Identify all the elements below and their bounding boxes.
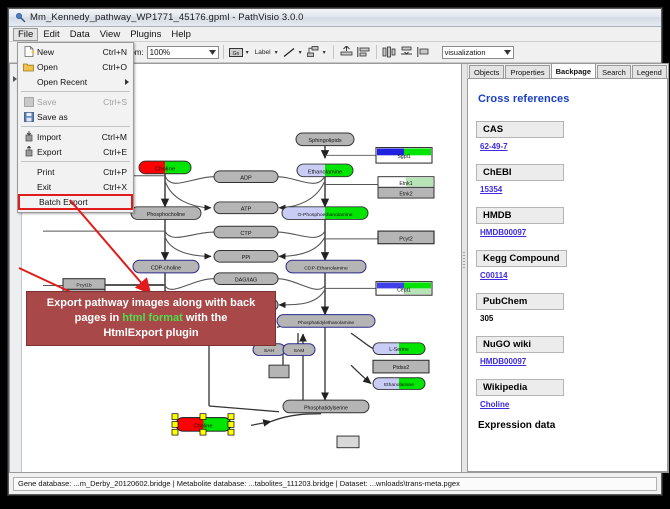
line-tool-button[interactable] (282, 45, 297, 60)
sidebar-tabstrip[interactable]: Objects Properties Backpage Search Legen… (467, 64, 668, 79)
node-phosphocholine[interactable]: Phosphocholine (131, 207, 201, 220)
export-icon (20, 146, 37, 157)
menu-item-open-recent[interactable]: Open Recent (18, 74, 133, 89)
xref-db-label: CAS (476, 121, 564, 138)
node-choline-bottom[interactable]: Choline (172, 414, 234, 435)
node-label: Etnk2 (399, 192, 412, 198)
status-text: Gene database: ...m_Derby_20120602.bridg… (13, 477, 657, 491)
menu-file[interactable]: File (13, 28, 38, 41)
menu-item-batch-export[interactable]: Batch Export (18, 194, 133, 210)
xref-block-pubchem: PubChem 305 (476, 291, 659, 323)
label-tool-button[interactable]: Label (253, 45, 273, 60)
tab-legend[interactable]: Legend (632, 65, 667, 78)
menu-item-shortcut: Ctrl+X (103, 182, 131, 192)
xref-value[interactable]: Choline (480, 400, 659, 409)
file-dropdown-menu[interactable]: New Ctrl+N Open Ctrl+O Open Recent Save … (17, 42, 134, 213)
xref-link[interactable]: HMDB00097 (480, 228, 526, 237)
xref-link[interactable]: 62-49-7 (480, 142, 508, 151)
menu-edit[interactable]: Edit (38, 28, 64, 41)
submenu-arrow-icon (125, 79, 129, 85)
node-ptdss2[interactable]: Ptdss2 (373, 360, 429, 373)
xref-link[interactable]: 15354 (480, 185, 502, 194)
pathvisio-window: Mm_Kennedy_pathway_WP1771_45176.gpml - P… (8, 8, 662, 495)
pathvisio-app-icon (14, 12, 26, 24)
node-label: Cept1 (397, 287, 411, 293)
node-ppi[interactable]: PPi (214, 251, 278, 263)
node-label: Ptdss2 (393, 365, 410, 371)
node-label: Pcyt2 (399, 236, 413, 242)
node-label: L-Serine (389, 347, 409, 353)
statusbar: Gene database: ...m_Derby_20120602.bridg… (9, 473, 661, 494)
menu-item-label: Save as (37, 112, 127, 122)
node-label: Sgpl1 (397, 154, 410, 160)
label-dropdown-caret[interactable]: ▾ (275, 49, 278, 56)
menu-item-shortcut: Ctrl+N (103, 47, 131, 57)
xref-block-cas: CAS 62-49-7 (476, 119, 659, 151)
xref-db-label: PubChem (476, 293, 564, 310)
menu-item-exit[interactable]: Exit Ctrl+X (18, 179, 133, 194)
chevron-down-icon (504, 50, 511, 55)
xref-link[interactable]: C00114 (480, 271, 508, 280)
node-small-block[interactable] (337, 436, 359, 448)
annotation-callout: Export pathway images along with back pa… (26, 291, 276, 346)
toolbar-separator (223, 45, 224, 59)
callout-highlight: html format (122, 312, 183, 324)
menu-item-new[interactable]: New Ctrl+N (18, 44, 133, 59)
menu-item-label: Import (37, 132, 102, 142)
node-adp[interactable]: ADP (214, 171, 278, 183)
node-l-serine[interactable]: L-Serine (373, 343, 425, 355)
node-sphingolipids[interactable]: Sphingolipids (296, 133, 354, 146)
node-label: CDP-choline (151, 266, 181, 272)
menu-item-print[interactable]: Print Ctrl+P (18, 164, 133, 179)
menu-item-shortcut: Ctrl+E (103, 147, 131, 157)
xref-link[interactable]: HMDB00097 (480, 357, 526, 366)
cross-references-heading: Cross references (478, 93, 659, 105)
node-anchor-block[interactable] (269, 365, 289, 378)
node-pcyt1b[interactable]: Pcyt1b (63, 279, 105, 290)
xref-link[interactable]: Choline (480, 400, 509, 409)
expression-data-heading: Expression data (478, 420, 659, 431)
node-etnk1[interactable]: Etnk1 (378, 177, 434, 188)
open-folder-icon (20, 62, 37, 72)
xref-value: 305 (480, 314, 659, 323)
align-top-icon[interactable] (339, 45, 354, 60)
node-label: CDP-Ethanolamine (304, 266, 348, 272)
node-label: Sphingolipids (308, 138, 342, 144)
menu-item-save[interactable]: Save Ctrl+S (18, 94, 133, 109)
save-icon (20, 97, 37, 107)
node-label: ATP (241, 207, 252, 213)
backpage-panel[interactable]: Cross references CAS 62-49-7 ChEBI 15354… (467, 79, 668, 472)
xref-db-label: ChEBI (476, 164, 564, 181)
toolbar-separator (376, 45, 377, 59)
callout-line-3: HtmlExport plugin (103, 326, 198, 341)
menu-item-shortcut: Ctrl+M (102, 132, 131, 142)
menu-view[interactable]: View (95, 28, 125, 41)
node-phosphatidylserine[interactable]: Phosphatidylserine (283, 400, 369, 413)
node-label: Phosphatidylserine (304, 405, 348, 411)
geneproduct-tool-button[interactable]: Gn (229, 45, 244, 60)
zoom-combobox[interactable]: 100% (147, 46, 219, 59)
menu-separator (21, 126, 130, 127)
menu-item-open[interactable]: Open Ctrl+O (18, 59, 133, 74)
node-label: Phosphocholine (147, 212, 185, 218)
tab-backpage[interactable]: Backpage (551, 63, 596, 78)
node-label: Ethanolamine (308, 169, 342, 175)
menu-item-export[interactable]: Export Ctrl+E (18, 144, 133, 159)
node-label: O-Phosphoethanolamine (297, 212, 352, 218)
node-sam[interactable]: SAM (283, 344, 315, 356)
menu-separator (21, 161, 130, 162)
xref-value[interactable]: 62-49-7 (480, 142, 659, 151)
node-label: Choline (194, 423, 213, 429)
node-pcyt2[interactable]: Pcyt2 (378, 231, 434, 244)
node-atp[interactable]: ATP (214, 202, 278, 214)
menubar[interactable]: File Edit Data View Plugins Help (9, 27, 661, 42)
zoom-value: 100% (150, 48, 170, 57)
menu-plugins[interactable]: Plugins (125, 28, 166, 41)
callout-line-1: Export pathway images along with back (47, 296, 255, 311)
interaction-dropdown-caret[interactable]: ▾ (323, 49, 326, 56)
node-label: CTP (240, 231, 252, 237)
node-label: Phosphatidylethanolamine (298, 320, 355, 326)
menu-item-save-as[interactable]: Save as (18, 109, 133, 124)
xref-db-label: HMDB (476, 207, 564, 224)
line-dropdown-caret[interactable]: ▾ (299, 49, 302, 56)
menu-item-label: Exit (37, 182, 103, 192)
window-titlebar: Mm_Kennedy_pathway_WP1771_45176.gpml - P… (9, 9, 661, 27)
svg-text:Gn: Gn (233, 51, 240, 57)
menu-item-label: Export (37, 147, 103, 157)
callout-text-after: with the (183, 312, 228, 324)
xref-block-hmdb: HMDB HMDB00097 (476, 205, 659, 237)
menu-item-label: New (37, 47, 103, 57)
node-label: SAH (264, 348, 275, 354)
visualization-combobox[interactable]: visualization (442, 46, 514, 59)
splitter-grip-icon (463, 252, 465, 270)
common-size-icon[interactable] (416, 45, 431, 60)
menu-separator (21, 91, 130, 92)
stack-center-icon[interactable] (382, 45, 397, 60)
xref-db-label: Wikipedia (476, 379, 564, 396)
tab-search[interactable]: Search (597, 65, 631, 78)
geneproduct-dropdown-caret[interactable]: ▾ (246, 49, 249, 56)
xref-value[interactable]: HMDB00097 (480, 357, 659, 366)
callout-text-before: pages in (75, 312, 123, 324)
node-label: Etnk1 (399, 181, 412, 187)
right-sidebar: Objects Properties Backpage Search Legen… (461, 63, 669, 473)
screenshot-frame: Mm_Kennedy_pathway_WP1771_45176.gpml - P… (0, 0, 670, 509)
node-label: Pcyt1b (76, 283, 91, 289)
import-icon (20, 131, 37, 142)
node-label: DAG/IAG (235, 278, 257, 284)
menu-item-import[interactable]: Import Ctrl+M (18, 129, 133, 144)
node-label: SAM (294, 348, 305, 354)
menu-item-label: Print (37, 167, 103, 177)
node-o-phosphoethanolamine[interactable]: O-Phosphoethanolamine (282, 207, 368, 220)
tab-properties[interactable]: Properties (505, 65, 549, 78)
node-cdp-ethanolamine[interactable]: CDP-Ethanolamine (286, 260, 366, 273)
tab-objects[interactable]: Objects (469, 65, 504, 78)
node-label: PPi (242, 255, 251, 261)
menu-item-label: Save (37, 97, 103, 107)
xref-block-nugo: NuGO wiki HMDB00097 (476, 334, 659, 366)
chevron-down-icon (209, 50, 216, 55)
toolbar-separator (333, 45, 334, 59)
menu-data[interactable]: Data (65, 28, 95, 41)
align-left-icon[interactable] (356, 45, 371, 60)
callout-line-2: pages in html format with the (75, 311, 228, 326)
node-label: ADP (240, 176, 252, 182)
visualization-value: visualization (445, 48, 486, 57)
node-cept1[interactable]: Cept1 (376, 282, 432, 296)
menu-item-label: Open (37, 62, 102, 72)
node-etnk2[interactable]: Etnk2 (378, 187, 434, 198)
new-file-icon (20, 46, 37, 57)
node-ethanolamine-2[interactable]: Ethanolamine (373, 378, 425, 390)
save-as-icon (20, 112, 37, 122)
xref-db-label: NuGO wiki (476, 336, 564, 353)
xref-value[interactable]: HMDB00097 (480, 228, 659, 237)
menu-item-shortcut: Ctrl+P (103, 167, 131, 177)
interaction-tool-button[interactable] (306, 45, 321, 60)
xref-block-wikipedia: Wikipedia Choline (476, 377, 659, 409)
xref-value[interactable]: C00114 (480, 271, 659, 280)
distribute-icon[interactable] (399, 45, 414, 60)
xref-block-kegg: Kegg Compound C00114 (476, 248, 659, 280)
node-label: Ethanolamine (384, 382, 414, 388)
xref-db-label: Kegg Compound (476, 250, 567, 267)
node-phosphatidylethanolamine[interactable]: Phosphatidylethanolamine (277, 315, 375, 328)
window-title: Mm_Kennedy_pathway_WP1771_45176.gpml - P… (30, 12, 304, 23)
menu-item-shortcut: Ctrl+S (103, 97, 131, 107)
menu-item-label: Batch Export (39, 197, 129, 207)
node-ethanolamine-1[interactable]: Ethanolamine (297, 164, 353, 177)
xref-value[interactable]: 15354 (480, 185, 659, 194)
node-dag[interactable]: DAG/IAG (214, 273, 278, 285)
node-choline-top[interactable]: Choline (139, 161, 191, 174)
menu-help[interactable]: Help (166, 28, 196, 41)
node-sgpl1[interactable]: Sgpl1 (376, 148, 432, 164)
menu-item-label: Open Recent (37, 77, 131, 87)
node-label: Choline (155, 166, 176, 172)
node-ctp[interactable]: CTP (214, 226, 278, 238)
node-cdp-choline[interactable]: CDP-choline (133, 260, 199, 273)
menu-item-shortcut: Ctrl+O (102, 62, 131, 72)
xref-block-chebi: ChEBI 15354 (476, 162, 659, 194)
